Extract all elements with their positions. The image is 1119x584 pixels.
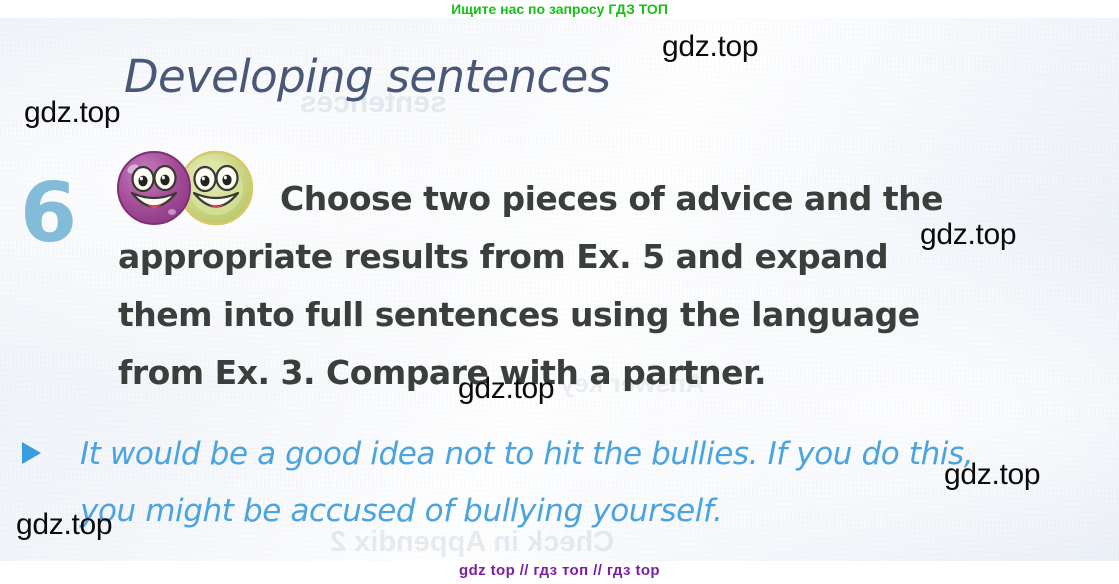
watermark-gdz-top: gdz.top bbox=[458, 372, 554, 406]
watermark-gdz-top: gdz.top bbox=[662, 30, 758, 64]
example-answer-text: It would be a good idea not to hit the b… bbox=[80, 426, 1030, 540]
instruction-line-2: appropriate results from Ex. 5 and expan… bbox=[118, 228, 998, 286]
page-root: Ищите нас по запросу ГДЗ ТОП sentences A… bbox=[0, 0, 1119, 584]
triangle-right-icon bbox=[22, 442, 41, 464]
watermark-gdz-top: gdz.top bbox=[944, 458, 1040, 492]
example-line-1: It would be a good idea not to hit the b… bbox=[80, 436, 899, 472]
section-headline: Developing sentences bbox=[124, 50, 611, 103]
top-promo-banner: Ищите нас по запросу ГДЗ ТОП bbox=[0, 0, 1119, 18]
smiley-face-purple-icon bbox=[116, 150, 192, 226]
smiley-pair-icon-group bbox=[116, 150, 262, 228]
instruction-line-3: them into full sentences using the langu… bbox=[118, 286, 998, 344]
watermark-gdz-top: gdz.top bbox=[16, 508, 112, 542]
watermark-gdz-top: gdz.top bbox=[24, 96, 120, 130]
bottom-promo-banner: gdz top // гдз топ // гдз top bbox=[0, 561, 1119, 581]
exercise-number: 6 bbox=[20, 173, 77, 255]
instruction-line-4: from Ex. 3. Compare with a partner. bbox=[118, 344, 998, 402]
watermark-gdz-top: gdz.top bbox=[920, 218, 1016, 252]
